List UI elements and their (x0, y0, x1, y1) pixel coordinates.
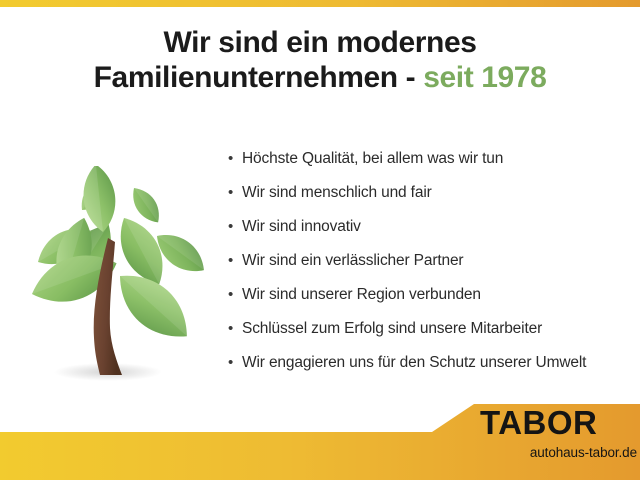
heading-line-2-main: Familienunternehmen - (94, 61, 424, 94)
list-item: • Wir sind innovativ (228, 218, 640, 252)
bullet-marker-icon: • (228, 287, 242, 302)
page-title: Wir sind ein modernes Familienunternehme… (0, 26, 640, 96)
list-item: • Wir sind unserer Region verbunden (228, 286, 640, 320)
list-item: • Wir sind menschlich und fair (228, 184, 640, 218)
heading-line-2: Familienunternehmen - seit 1978 (0, 61, 640, 96)
logo-wordmark: TABOR (478, 406, 640, 439)
slide-canvas: Wir sind ein modernes Familienunternehme… (0, 0, 640, 480)
bullet-marker-icon: • (228, 253, 242, 268)
list-item-label: Wir sind unserer Region verbunden (242, 286, 481, 304)
bullet-marker-icon: • (228, 185, 242, 200)
list-item-label: Wir sind menschlich und fair (242, 184, 432, 202)
list-item: • Wir sind ein verlässlicher Partner (228, 252, 640, 286)
bullet-marker-icon: • (228, 151, 242, 166)
list-item: • Höchste Qualität, bei allem was wir tu… (228, 150, 640, 184)
bullet-marker-icon: • (228, 321, 242, 336)
list-item-label: Wir sind innovativ (242, 218, 361, 236)
heading-accent-year: seit 1978 (423, 61, 546, 94)
logo-tagline: autohaus-tabor.de (478, 446, 640, 460)
bullet-marker-icon: • (228, 219, 242, 234)
list-item-label: Höchste Qualität, bei allem was wir tun (242, 150, 503, 168)
list-item-label: Wir engagieren uns für den Schutz unsere… (242, 354, 586, 372)
list-item-label: Wir sind ein verlässlicher Partner (242, 252, 463, 270)
values-list: • Höchste Qualität, bei allem was wir tu… (228, 150, 640, 388)
list-item: • Schlüssel zum Erfolg sind unsere Mitar… (228, 320, 640, 354)
bullet-marker-icon: • (228, 355, 242, 370)
list-item: • Wir engagieren uns für den Schutz unse… (228, 354, 640, 388)
tree-illustration (16, 166, 212, 392)
list-item-label: Schlüssel zum Erfolg sind unsere Mitarbe… (242, 320, 542, 338)
heading-line-1: Wir sind ein modernes (0, 26, 640, 61)
top-accent-strip (0, 0, 640, 7)
brand-logo[interactable]: TABOR autohaus-tabor.de (478, 406, 640, 460)
